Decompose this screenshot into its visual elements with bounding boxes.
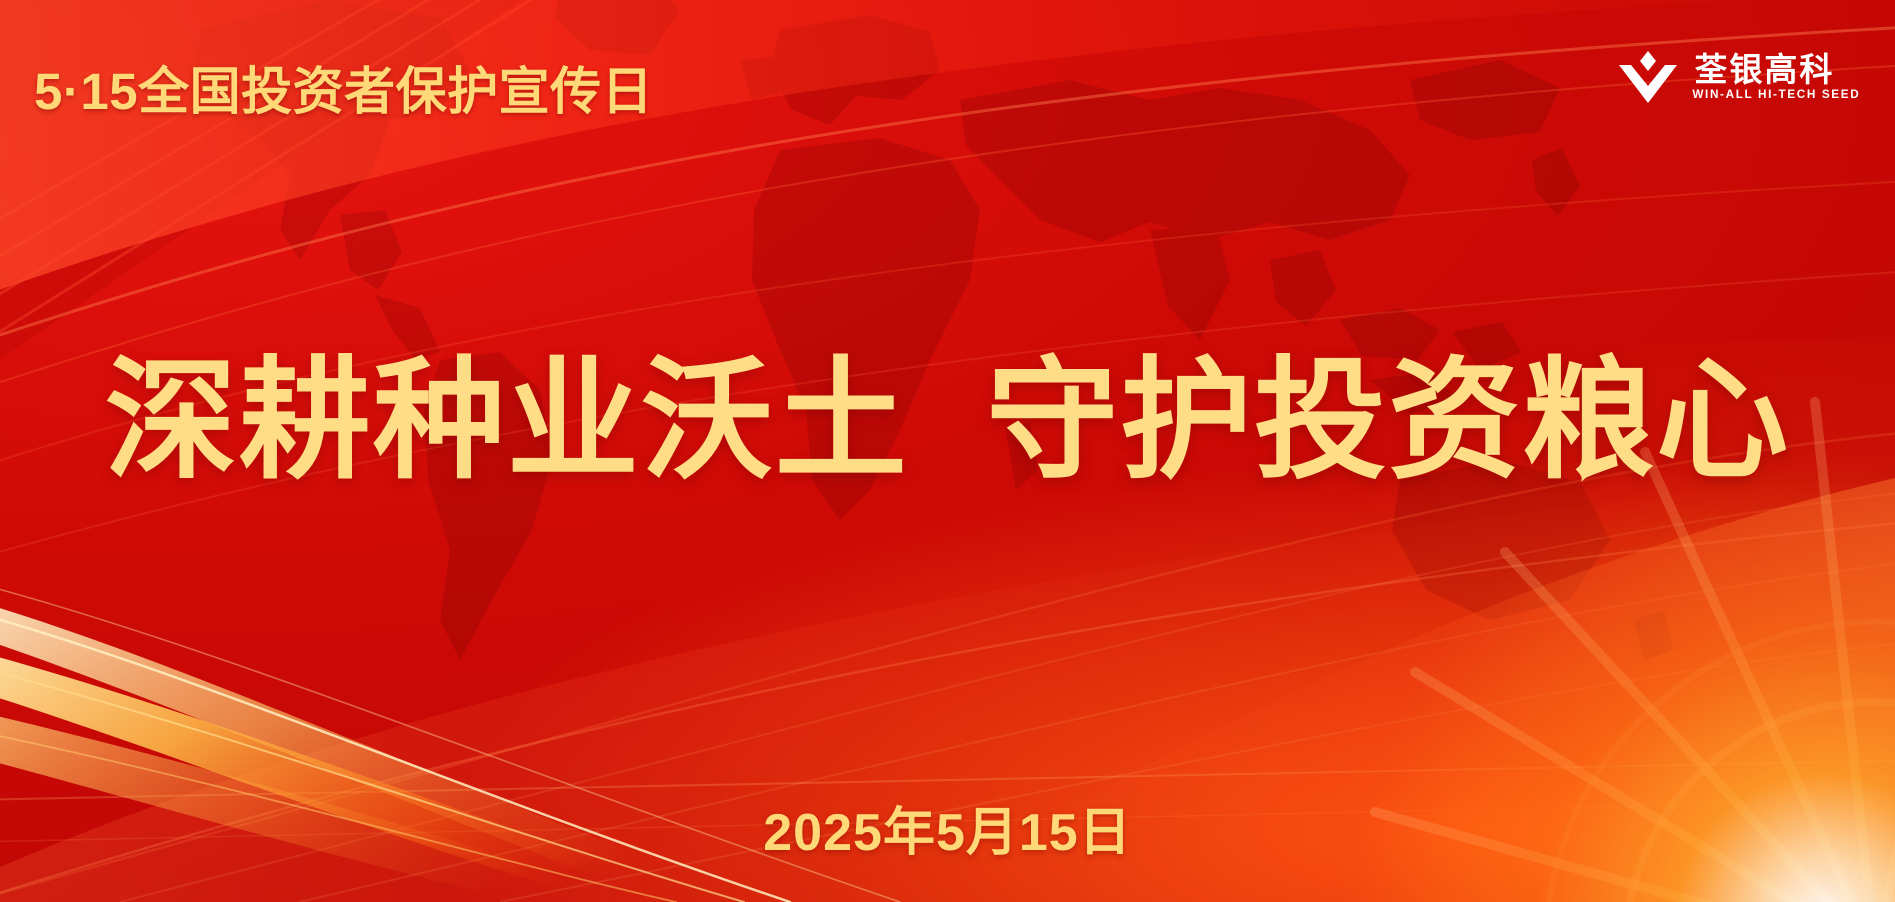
chevron-diamond-logo-icon bbox=[1618, 48, 1678, 106]
main-title-text: 深耕种业沃土 守护投资粮心 bbox=[105, 352, 1790, 491]
event-date-text: 2025年5月15日 bbox=[763, 804, 1131, 862]
brand-text: 荃银高科 WIN-ALL HI-TECH SEED bbox=[1694, 53, 1859, 102]
brand-logo: 荃银高科 WIN-ALL HI-TECH SEED bbox=[1618, 48, 1859, 106]
brand-name-cn: 荃银高科 bbox=[1694, 53, 1859, 88]
brand-name-en: WIN-ALL HI-TECH SEED bbox=[1693, 89, 1861, 101]
investor-protection-banner: 5·15全国投资者保护宣传日 荃银高科 WIN-ALL HI-TECH SEED… bbox=[0, 0, 1895, 902]
event-date: 2025年5月15日 bbox=[0, 790, 1895, 865]
main-title: 深耕种业沃土 守护投资粮心 bbox=[0, 352, 1895, 491]
campaign-headline: 5·15全国投资者保护宣传日 bbox=[34, 50, 653, 124]
